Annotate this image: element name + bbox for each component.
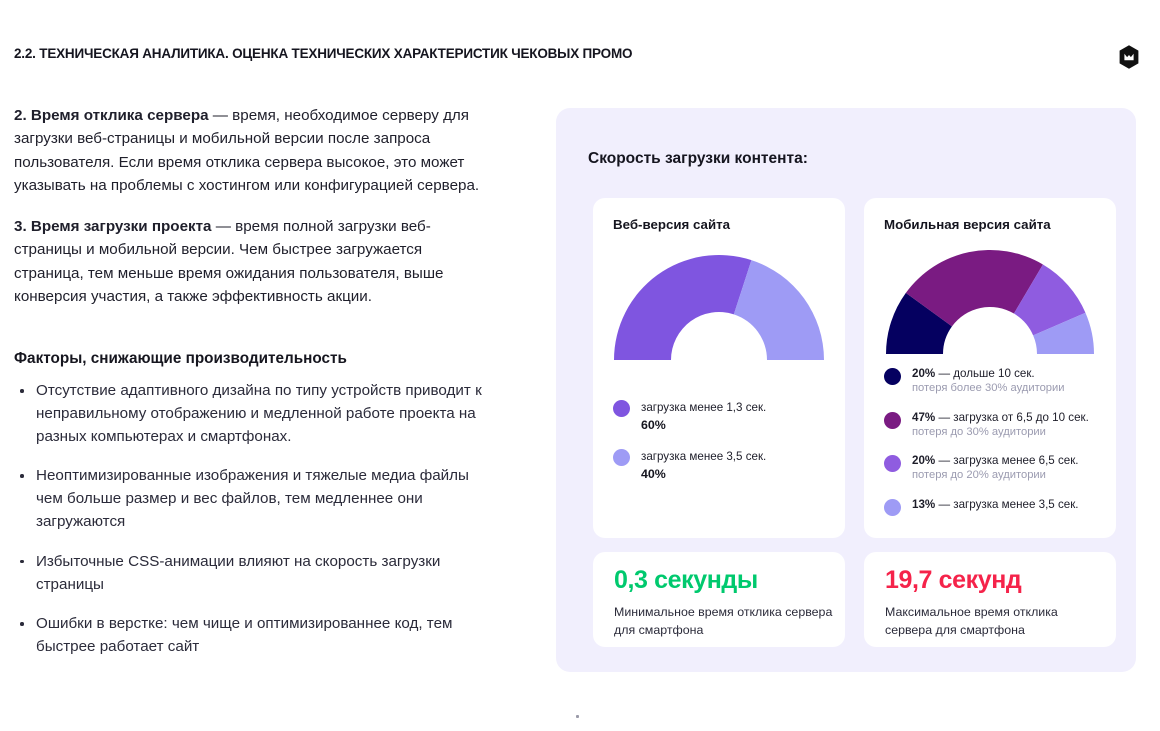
web-semi-donut-chart xyxy=(611,246,827,366)
donut-segment xyxy=(614,255,751,360)
list-item: Отсутствие адаптивного дизайна по типу у… xyxy=(14,380,492,448)
web-card-title: Веб-версия сайта xyxy=(613,217,730,232)
list-item: Ошибки в верстке: чем чище и оптимизиров… xyxy=(14,613,492,659)
bullet-dot-icon xyxy=(20,389,24,393)
legend-swatch-icon xyxy=(884,368,901,385)
paragraph-3-lead: 3. Время загрузки проекта xyxy=(14,218,212,235)
legend-label: дольше 10 сек. xyxy=(953,367,1034,380)
slide-root: 2.2. ТЕХНИЧЕСКАЯ АНАЛИТИКА. ОЦЕНКА ТЕХНИ… xyxy=(0,0,1160,731)
legend-dash: — xyxy=(935,367,953,380)
legend-value: 20% xyxy=(912,367,935,380)
paragraph-2-lead: 2. Время отклика сервера xyxy=(14,107,209,124)
legend-sublabel: потеря более 30% аудитории xyxy=(912,381,1065,396)
legend-value: 60% xyxy=(641,418,666,432)
legend-value: 40% xyxy=(641,467,666,481)
mobile-chart-legend: 20% — дольше 10 сек. потеря более 30% ау… xyxy=(884,366,1102,516)
left-text-column: 2. Время отклика сервера — время, необхо… xyxy=(14,104,492,676)
legend-swatch-icon xyxy=(613,400,630,417)
legend-label: загрузка менее 6,5 сек. xyxy=(953,454,1078,467)
factors-heading: Факторы, снижающие производительность xyxy=(14,350,492,368)
list-item-text: Избыточные CSS-анимации влияют на скорос… xyxy=(36,553,440,593)
paragraph-project-load: 3. Время загрузки проекта — время полной… xyxy=(14,215,492,308)
factors-list: Отсутствие адаптивного дизайна по типу у… xyxy=(14,380,492,659)
list-item: Избыточные CSS-анимации влияют на скорос… xyxy=(14,551,492,597)
legend-item: 20% — дольше 10 сек. потеря более 30% ау… xyxy=(884,366,1102,397)
legend-label: загрузка менее 1,3 сек. xyxy=(641,401,766,414)
min-response-label: Минимальное время отклика сервера для см… xyxy=(614,604,833,639)
legend-dash: — xyxy=(935,411,953,424)
panel-title: Скорость загрузки контента: xyxy=(588,150,808,168)
mobile-semi-donut-chart xyxy=(882,242,1098,360)
legend-item: 13% — загрузка менее 3,5 сек. xyxy=(884,497,1102,516)
legend-swatch-icon xyxy=(613,449,630,466)
maxma-hexagon-logo xyxy=(1116,44,1142,70)
legend-sublabel: потеря до 20% аудитории xyxy=(912,468,1079,483)
donut-segment xyxy=(734,260,824,360)
bullet-dot-icon xyxy=(20,474,24,478)
web-chart-legend: загрузка менее 1,3 сек. 60% загрузка мен… xyxy=(613,398,831,483)
page-title: 2.2. ТЕХНИЧЕСКАЯ АНАЛИТИКА. ОЦЕНКА ТЕХНИ… xyxy=(14,46,632,61)
legend-label: загрузка от 6,5 до 10 сек. xyxy=(953,411,1089,424)
web-version-card: Веб-версия сайта загрузка менее 1,3 сек.… xyxy=(593,198,845,538)
legend-label: загрузка менее 3,5 сек. xyxy=(953,498,1078,511)
legend-label: загрузка менее 3,5 сек. xyxy=(641,450,766,463)
legend-swatch-icon xyxy=(884,499,901,516)
legend-value: 20% xyxy=(912,454,935,467)
list-item-text: Отсутствие адаптивного дизайна по типу у… xyxy=(36,382,482,445)
legend-item: загрузка менее 3,5 сек. 40% xyxy=(613,447,831,483)
legend-sublabel: потеря до 30% аудитории xyxy=(912,425,1089,440)
max-response-time-card: 19,7 секунд Максимальное время отклика с… xyxy=(864,552,1116,647)
max-response-label: Максимальное время отклика сервера для с… xyxy=(885,604,1104,639)
legend-item: загрузка менее 1,3 сек. 60% xyxy=(613,398,831,434)
list-item-text: Ошибки в верстке: чем чище и оптимизиров… xyxy=(36,615,452,655)
max-response-value: 19,7 секунд xyxy=(885,566,1021,595)
legend-swatch-icon xyxy=(884,455,901,472)
legend-value: 47% xyxy=(912,411,935,424)
legend-value: 13% xyxy=(912,498,935,511)
list-item: Неоптимизированные изображения и тяжелые… xyxy=(14,465,492,533)
bullet-dot-icon xyxy=(20,560,24,564)
list-item-text: Неоптимизированные изображения и тяжелые… xyxy=(36,467,469,530)
mobile-card-title: Мобильная версия сайта xyxy=(884,217,1051,232)
mobile-version-card: Мобильная версия сайта 20% — дольше 10 с… xyxy=(864,198,1116,538)
legend-swatch-icon xyxy=(884,412,901,429)
bullet-dot-icon xyxy=(20,622,24,626)
content-speed-panel: Скорость загрузки контента: Веб-версия с… xyxy=(556,108,1136,672)
paragraph-server-response: 2. Время отклика сервера — время, необхо… xyxy=(14,104,492,197)
page-marker-dot xyxy=(576,715,579,718)
legend-item: 47% — загрузка от 6,5 до 10 сек. потеря … xyxy=(884,410,1102,441)
legend-dash: — xyxy=(935,454,953,467)
min-response-time-card: 0,3 секунды Минимальное время отклика се… xyxy=(593,552,845,647)
min-response-value: 0,3 секунды xyxy=(614,566,758,595)
legend-dash: — xyxy=(935,498,953,511)
legend-item: 20% — загрузка менее 6,5 сек. потеря до … xyxy=(884,453,1102,484)
